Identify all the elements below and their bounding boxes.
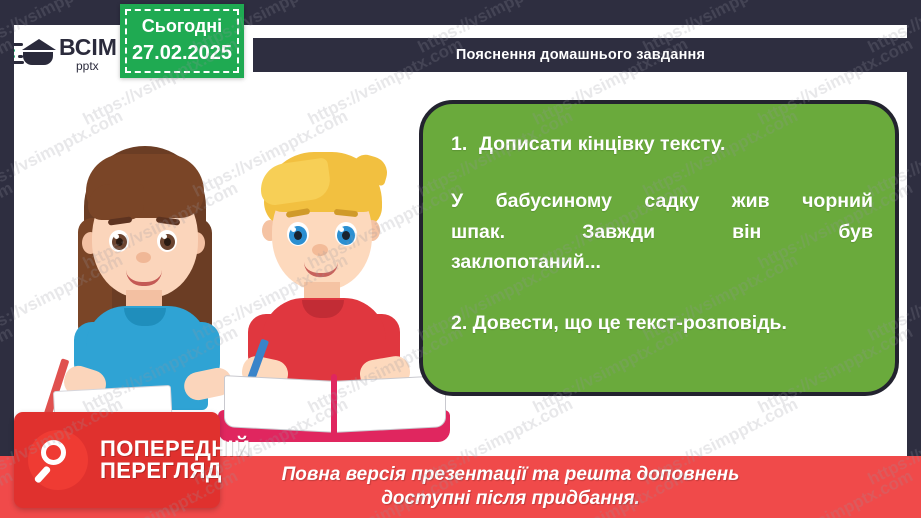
girl-pupil-right [164, 238, 171, 246]
task-item-1-text: Дописати кінцівку тексту. [479, 133, 725, 155]
task-item-1: 1.Дописати кінцівку тексту. [451, 132, 873, 156]
boy-eye-glint-right [339, 227, 344, 232]
today-date-badge: Сьогодні 27.02.2025 [120, 4, 244, 78]
magnifier-icon [28, 430, 88, 490]
boy-eye-glint-left [291, 227, 296, 232]
children-illustration [20, 120, 420, 450]
slide-header-bar: Пояснення домашнього завдання [253, 38, 908, 72]
boy-pupil-left [294, 231, 302, 240]
girl-fringe-side [88, 184, 144, 220]
purchase-notice-line-1: Повна версія презентації та решта доповн… [282, 463, 740, 487]
girl-writing [58, 140, 243, 420]
task-paragraph-line-1: У бабусиному садку жив чорний [451, 186, 873, 216]
purchase-notice-line-2: доступні після придбання. [381, 487, 640, 511]
logo-subtitle: pptx [76, 60, 117, 72]
today-label: Сьогодні [142, 17, 222, 37]
frame-right-band [907, 0, 921, 518]
preview-badge: ПОПЕРЕДНІЙ ПЕРЕГЛЯД [14, 412, 220, 508]
page-title: Пояснення домашнього завдання [456, 47, 705, 63]
frame-left-band [0, 0, 14, 518]
logo-title: ВСІМ [59, 36, 117, 59]
open-book [218, 372, 450, 448]
task-item-2: 2. Довести, що це текст-розповідь. [451, 311, 873, 335]
girl-pupil-left [116, 238, 123, 246]
girl-nose [136, 252, 151, 263]
task-paragraph-line-3: заклопотаний... [451, 247, 873, 277]
homework-task-box: 1.Дописати кінцівку тексту. У бабусиному… [419, 100, 899, 396]
graduation-cap-icon [8, 33, 56, 75]
preview-badge-line-1: ПОПЕРЕДНІЙ [100, 438, 250, 460]
boy-pupil-right [342, 231, 350, 240]
task-item-1-number: 1. [451, 132, 479, 156]
boy-nose [312, 244, 328, 256]
slide-root: ВСІМ pptx Сьогодні 27.02.2025 Пояснення … [0, 0, 921, 518]
today-date-value: 27.02.2025 [132, 41, 232, 65]
preview-badge-line-2: ПЕРЕГЛЯД [100, 460, 250, 482]
girl-eye-glint-left [114, 234, 119, 239]
task-paragraph-line-2: шпак. Завжди він був [451, 217, 873, 247]
vsim-pptx-logo[interactable]: ВСІМ pptx [8, 30, 123, 78]
book-spine [331, 374, 337, 436]
girl-eye-glint-right [162, 234, 167, 239]
book-page-left [224, 375, 336, 433]
